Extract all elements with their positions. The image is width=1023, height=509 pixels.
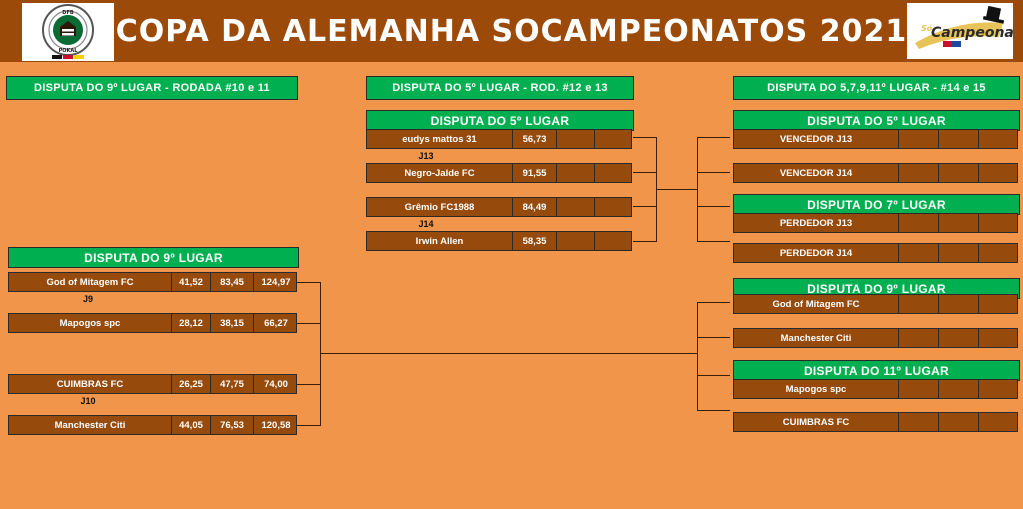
score-cell: 47,75 (211, 375, 254, 393)
connector-line (697, 302, 698, 410)
score-cell: 26,25 (172, 375, 211, 393)
score-cell: 28,12 (172, 314, 211, 332)
table-row[interactable]: PERDEDOR J13 (733, 213, 1018, 233)
connector-line (633, 206, 657, 207)
table-row[interactable]: VENCEDOR J14 (733, 163, 1018, 183)
score-cell: 56,73 (513, 130, 557, 148)
table-row[interactable]: Mapogos spc (733, 379, 1018, 399)
score-cell (595, 164, 631, 182)
score-cell (899, 329, 939, 347)
team-name: Manchester Citi (9, 416, 172, 434)
match-label: J13 (366, 149, 486, 162)
score-cell (899, 244, 939, 262)
table-row[interactable]: God of Mitagem FC (733, 294, 1018, 314)
score-cell (595, 130, 631, 148)
svg-text:Campeonatos: Campeonatos (931, 25, 1013, 41)
connector-line (633, 137, 657, 138)
table-row[interactable]: Grêmio FC1988 84,49 (366, 197, 632, 217)
team-name: CUIMBRAS FC (9, 375, 172, 393)
score-cell (979, 214, 1019, 232)
score-cell (939, 130, 979, 148)
score-cell: 84,49 (513, 198, 557, 216)
score-cell (557, 164, 595, 182)
score-cell: 58,35 (513, 232, 557, 250)
connector-line (633, 172, 657, 173)
score-cell (939, 244, 979, 262)
team-name: Manchester Citi (734, 329, 899, 347)
team-name: God of Mitagem FC (9, 273, 172, 291)
table-row[interactable]: Irwin Allen 58,35 (366, 231, 632, 251)
section-header-right: DISPUTA DO 5,7,9,11º LUGAR - #14 e 15 (733, 76, 1020, 100)
score-cell (557, 130, 595, 148)
group-title-right-0: DISPUTA DO 5º LUGAR (733, 110, 1020, 131)
score-cell (979, 130, 1019, 148)
score-cell: 38,15 (211, 314, 254, 332)
connector-line (297, 425, 321, 426)
team-name: PERDEDOR J13 (734, 214, 899, 232)
score-cell (595, 198, 631, 216)
score-cell: 66,27 (254, 314, 298, 332)
page-header: COPA DA ALEMANHA SOCAMPEONATOS 2021 DFB … (0, 0, 1023, 62)
score-cell: 124,97 (254, 273, 298, 291)
score-cell: 83,45 (211, 273, 254, 291)
score-cell: 41,52 (172, 273, 211, 291)
connector-line (697, 241, 730, 242)
score-cell: 120,58 (254, 416, 298, 434)
score-cell (557, 198, 595, 216)
score-cell (899, 164, 939, 182)
table-row[interactable]: Mapogos spc 28,12 38,15 66,27 (8, 313, 297, 333)
score-cell (939, 214, 979, 232)
connector-line (697, 410, 730, 411)
group-title-middle: DISPUTA DO 5º LUGAR (366, 110, 634, 131)
table-row[interactable]: God of Mitagem FC 41,52 83,45 124,97 (8, 272, 297, 292)
connector-line (697, 337, 730, 338)
score-cell (979, 329, 1019, 347)
score-cell: 74,00 (254, 375, 298, 393)
connector-line (320, 353, 698, 354)
match-label: J14 (366, 217, 486, 230)
score-cell (939, 164, 979, 182)
score-cell: 44,05 (172, 416, 211, 434)
so-campeonatos-logo: Só Campeonatos (907, 3, 1013, 59)
connector-line (697, 302, 730, 303)
team-name: PERDEDOR J14 (734, 244, 899, 262)
group-title-right-3: DISPUTA DO 11º LUGAR (733, 360, 1020, 381)
svg-text:DFB: DFB (62, 10, 74, 16)
score-cell (557, 232, 595, 250)
score-cell (939, 295, 979, 313)
match-label: J9 (8, 292, 168, 305)
bracket-canvas: COPA DA ALEMANHA SOCAMPEONATOS 2021 DFB … (0, 0, 1023, 509)
team-name: CUIMBRAS FC (734, 413, 899, 431)
connector-line (297, 384, 321, 385)
score-cell (899, 214, 939, 232)
score-cell: 76,53 (211, 416, 254, 434)
score-cell (899, 295, 939, 313)
score-cell (939, 413, 979, 431)
connector-line (633, 241, 657, 242)
table-row[interactable]: VENCEDOR J13 (733, 129, 1018, 149)
table-row[interactable]: Manchester Citi (733, 328, 1018, 348)
connector-line (697, 206, 730, 207)
score-cell (979, 413, 1019, 431)
section-header-middle: DISPUTA DO 5º LUGAR - ROD. #12 e 13 (366, 76, 634, 100)
page-title: COPA DA ALEMANHA SOCAMPEONATOS 2021 (0, 0, 1023, 62)
connector-line (697, 172, 730, 173)
connector-line (297, 323, 321, 324)
team-name: VENCEDOR J13 (734, 130, 899, 148)
connector-line (697, 375, 730, 376)
connector-line (697, 137, 698, 241)
table-row[interactable]: PERDEDOR J14 (733, 243, 1018, 263)
table-row[interactable]: CUIMBRAS FC 26,25 47,75 74,00 (8, 374, 297, 394)
connector-line (656, 189, 698, 190)
score-cell (595, 232, 631, 250)
table-row[interactable]: Manchester Citi 44,05 76,53 120,58 (8, 415, 297, 435)
score-cell (979, 244, 1019, 262)
team-name: eudys mattos 31 (367, 130, 513, 148)
svg-text:POKAL: POKAL (59, 48, 79, 54)
table-row[interactable]: Negro-Jalde FC 91,55 (366, 163, 632, 183)
match-label: J10 (8, 394, 168, 407)
connector-line (297, 282, 321, 283)
score-cell (939, 380, 979, 398)
group-title-left: DISPUTA DO 9º LUGAR (8, 247, 299, 268)
score-cell (899, 380, 939, 398)
score-cell (899, 413, 939, 431)
score-cell: 91,55 (513, 164, 557, 182)
score-cell (899, 130, 939, 148)
team-name: Mapogos spc (9, 314, 172, 332)
score-cell (979, 380, 1019, 398)
dfb-pokal-logo: DFB POKAL (22, 3, 114, 61)
score-cell (939, 329, 979, 347)
section-header-left: DISPUTA DO 9º LUGAR - RODADA #10 e 11 (6, 76, 298, 100)
team-name: Negro-Jalde FC (367, 164, 513, 182)
score-cell (979, 164, 1019, 182)
team-name: Irwin Allen (367, 232, 513, 250)
team-name: VENCEDOR J14 (734, 164, 899, 182)
table-row[interactable]: CUIMBRAS FC (733, 412, 1018, 432)
group-title-right-1: DISPUTA DO 7º LUGAR (733, 194, 1020, 215)
team-name: Grêmio FC1988 (367, 198, 513, 216)
connector-line (697, 137, 730, 138)
table-row[interactable]: eudys mattos 31 56,73 (366, 129, 632, 149)
team-name: Mapogos spc (734, 380, 899, 398)
team-name: God of Mitagem FC (734, 295, 899, 313)
score-cell (979, 295, 1019, 313)
